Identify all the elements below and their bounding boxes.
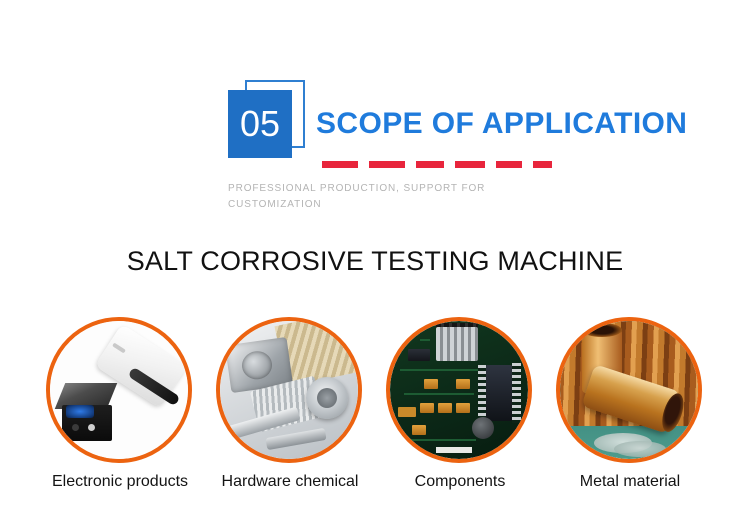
electronic-products-photo [50,321,188,459]
hardware-chemical-photo [220,321,358,459]
category-item-metal-material: Metal material [555,316,705,506]
header-block: 05 SCOPE OF APPLICATION PROFESSIONAL PRO… [0,0,750,225]
category-circle-frame [386,317,532,463]
category-label: Hardware chemical [193,473,387,491]
red-dashed-divider [322,161,552,168]
divider-dash [533,161,552,168]
category-item-components: Components [385,316,535,506]
section-number-badge: 05 [228,80,308,160]
badge-number-text: 05 [228,90,292,158]
components-photo [390,321,528,459]
page-subtitle: PROFESSIONAL PRODUCTION, SUPPORT FOR CUS… [228,181,528,213]
category-label: Components [363,473,557,491]
divider-dash [322,161,358,168]
category-label: Electronic products [23,473,217,491]
product-heading: SALT CORROSIVE TESTING MACHINE [0,246,750,277]
category-circle-frame [216,317,362,463]
divider-dash [455,161,485,168]
divider-dash [496,161,522,168]
metal-material-photo [560,321,698,459]
category-label: Metal material [533,473,727,491]
category-item-electronic-products: Electronic products [45,316,195,506]
divider-dash [416,161,444,168]
category-circle-frame [46,317,192,463]
category-circle-frame [556,317,702,463]
application-category-row: Electronic products Hardware chemical [0,316,750,506]
page-title: SCOPE OF APPLICATION [316,107,687,141]
divider-dash [369,161,405,168]
category-item-hardware-chemical: Hardware chemical [215,316,365,506]
